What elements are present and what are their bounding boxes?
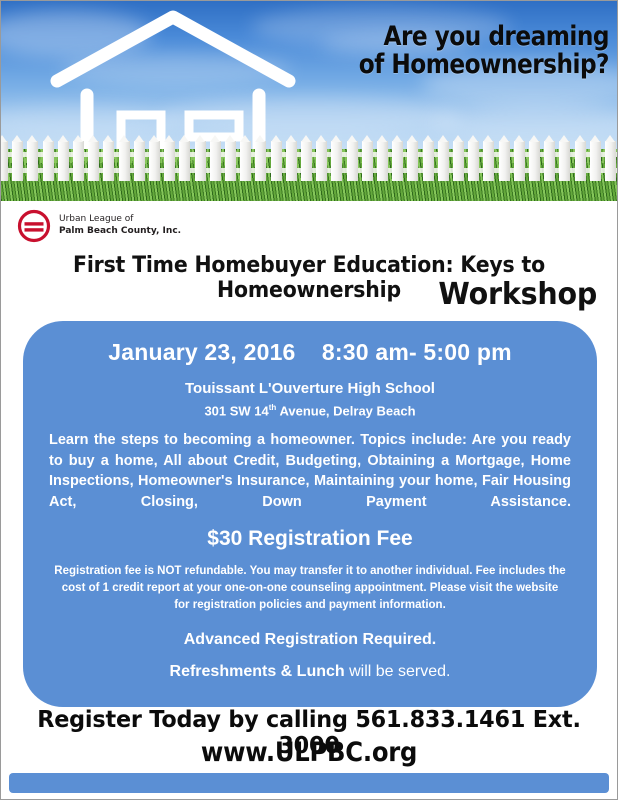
address-street-number: 301 SW 14 <box>204 403 268 418</box>
org-name-line1: Urban League of <box>59 214 181 226</box>
fence-picket <box>590 141 601 181</box>
fence-picket <box>362 141 373 181</box>
refreshments-notice: Refreshments & Lunch will be served. <box>45 663 575 681</box>
fence-picket <box>164 141 175 181</box>
urban-league-equals-icon <box>17 209 51 243</box>
workshop-topics: Learn the steps to becoming a homeowner.… <box>45 430 575 512</box>
fence-picket <box>392 141 403 181</box>
fence-picket <box>88 141 99 181</box>
fence-picket <box>286 141 297 181</box>
fence-picket <box>103 141 114 181</box>
ground-strip <box>1 129 617 201</box>
organization-logo: Urban League of Palm Beach County, Inc. <box>17 209 181 243</box>
event-datetime: January 23, 2016 8:30 am- 5:00 pm <box>45 339 575 366</box>
fence-picket <box>483 141 494 181</box>
fence-picket <box>134 141 145 181</box>
registration-fee: $30 Registration Fee <box>45 527 575 551</box>
website-link[interactable]: www.ULPBC.org <box>32 737 586 768</box>
fence-picket <box>331 141 342 181</box>
fence-picket <box>271 141 282 181</box>
fence-picket <box>12 141 23 181</box>
fence-picket <box>58 141 69 181</box>
refreshments-detail: will be served. <box>345 663 451 680</box>
fence-picket <box>210 141 221 181</box>
fence-picket <box>225 141 236 181</box>
fence-picket <box>529 141 540 181</box>
fence-picket <box>119 141 130 181</box>
advanced-registration-notice: Advanced Registration Required. <box>45 631 575 649</box>
footer-bar <box>9 773 609 793</box>
page-subtitle: Workshop <box>438 277 597 312</box>
event-details-panel: January 23, 2016 8:30 am- 5:00 pm Touiss… <box>23 321 597 707</box>
fence-picket <box>605 141 616 181</box>
refreshments-label: Refreshments & Lunch <box>170 663 345 680</box>
fence-picket <box>499 141 510 181</box>
banner-headline: Are you dreaming of Homeownership? <box>351 23 609 78</box>
fence-picket <box>559 141 570 181</box>
fence-picket <box>316 141 327 181</box>
fence-picket <box>544 141 555 181</box>
picket-fence-icon <box>1 137 617 181</box>
fence-picket <box>377 141 388 181</box>
fence-picket <box>423 141 434 181</box>
banner-headline-line1: Are you dreaming <box>383 21 609 52</box>
event-venue: Touissant L'Ouverture High School <box>45 380 575 397</box>
organization-name: Urban League of Palm Beach County, Inc. <box>59 214 181 238</box>
event-address: 301 SW 14th Avenue, Delray Beach <box>45 403 575 418</box>
registration-fee-note: Registration fee is NOT refundable. You … <box>45 563 575 615</box>
fence-picket <box>575 141 586 181</box>
fence-picket <box>514 141 525 181</box>
fence-picket <box>301 141 312 181</box>
fence-picket <box>453 141 464 181</box>
fence-picket <box>149 141 160 181</box>
fence-picket <box>27 141 38 181</box>
fence-picket <box>179 141 190 181</box>
fence-picket <box>1 141 8 181</box>
banner-headline-line2: of Homeownership? <box>351 51 609 79</box>
address-remainder: Avenue, Delray Beach <box>276 403 415 418</box>
org-name-line2: Palm Beach County, Inc. <box>59 226 181 238</box>
fence-picket <box>438 141 449 181</box>
fence-picket <box>407 141 418 181</box>
header-banner: Are you dreaming of Homeownership? <box>1 1 617 201</box>
fence-picket <box>73 141 84 181</box>
flyer-page: Are you dreaming of Homeownership? Urban… <box>0 0 618 800</box>
fence-picket <box>347 141 358 181</box>
fence-picket <box>195 141 206 181</box>
fence-picket <box>468 141 479 181</box>
fence-picket <box>255 141 266 181</box>
fence-picket <box>240 141 251 181</box>
fence-picket <box>43 141 54 181</box>
